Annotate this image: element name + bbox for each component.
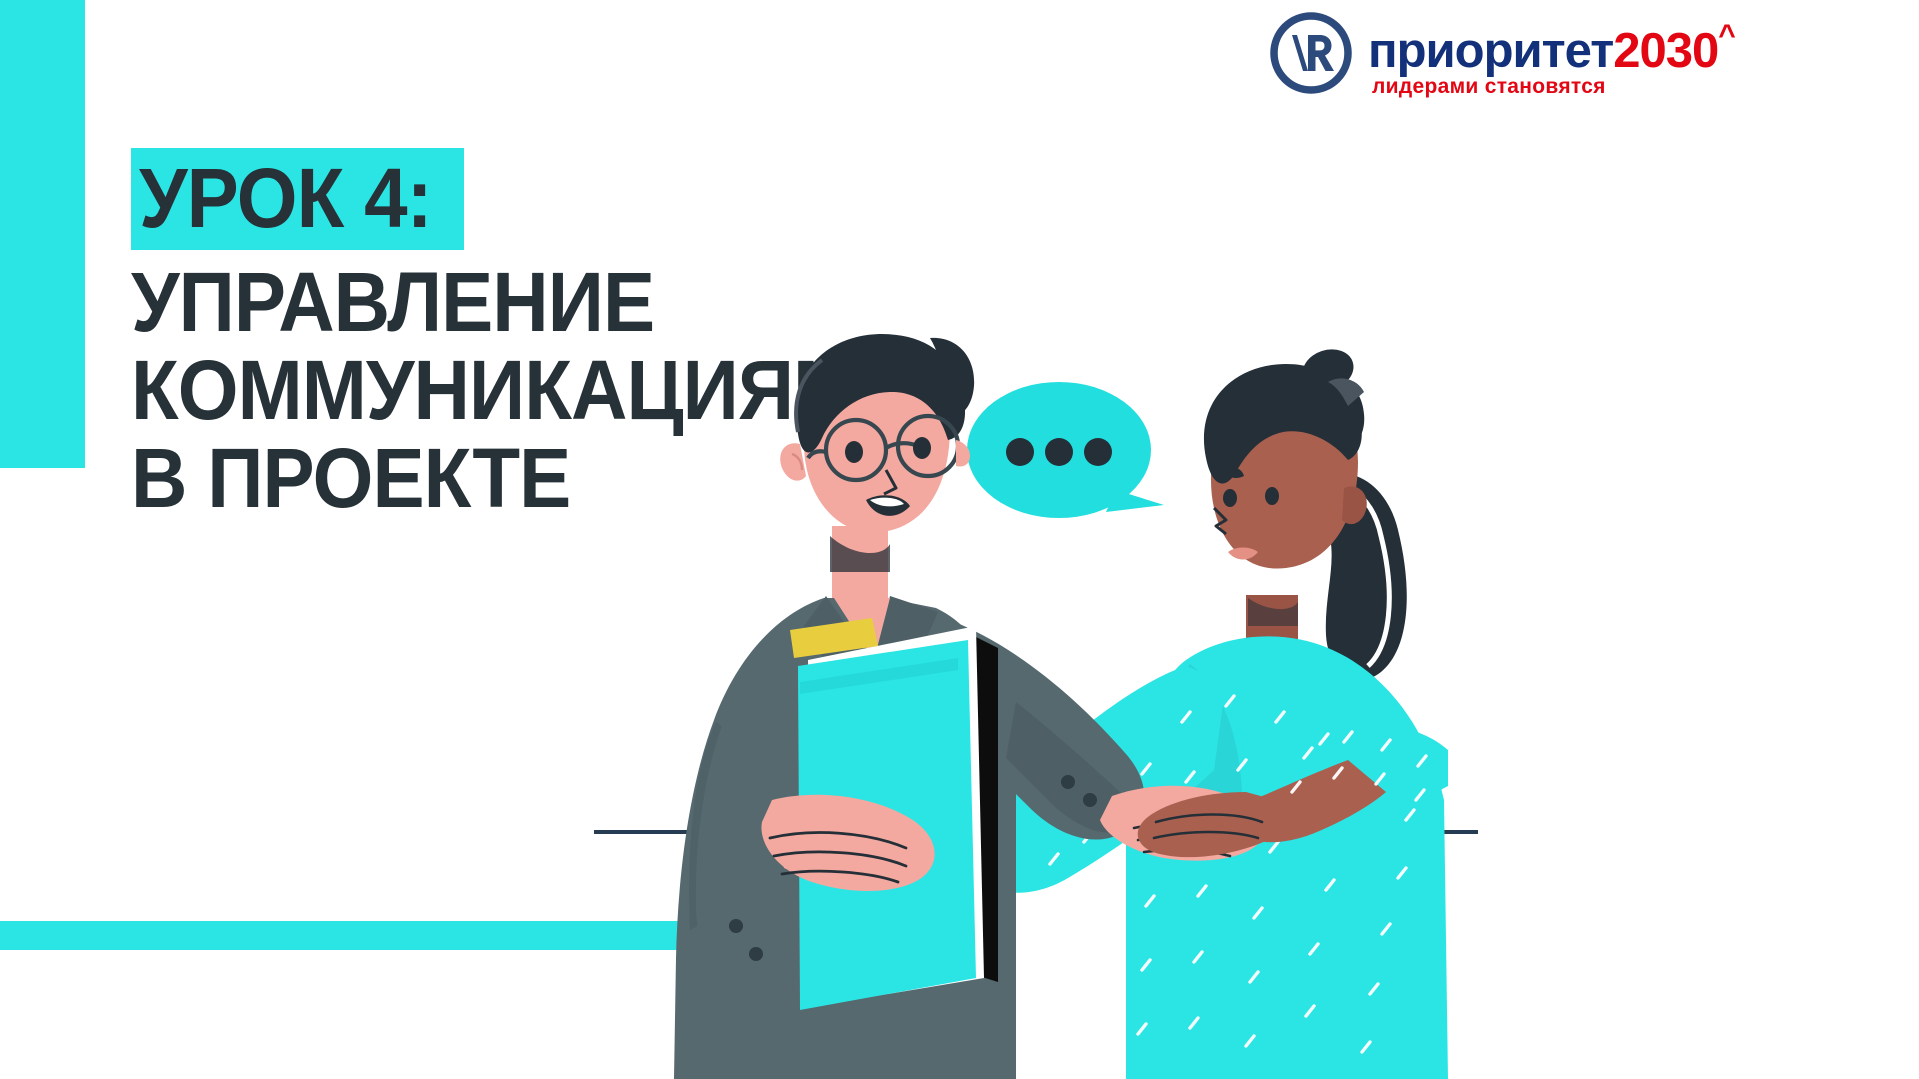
lesson-number-label: УРОК 4: [139,154,432,242]
left-accent-bar [0,0,85,468]
priority-2030-logo: приоритет2030^ лидерами становятся [1268,10,1919,99]
logo-title-line: приоритет2030^ [1368,24,1735,78]
speech-bubble-icon [967,382,1164,518]
logo-caret-icon: ^ [1718,19,1735,52]
lesson-number-badge: УРОК 4: [131,148,464,250]
logo-wordmark: приоритет2030^ лидерами становятся [1368,10,1919,99]
logo-word-prioritet: приоритет [1368,24,1613,78]
handshake-illustration [586,330,1486,1079]
logo-word-2030: 2030 [1613,24,1718,78]
logo-tagline: лидерами становятся [1368,75,1606,98]
vr-circle-icon [1268,10,1354,96]
slide-root: приоритет2030^ лидерами становятся УРОК … [0,0,1919,1079]
